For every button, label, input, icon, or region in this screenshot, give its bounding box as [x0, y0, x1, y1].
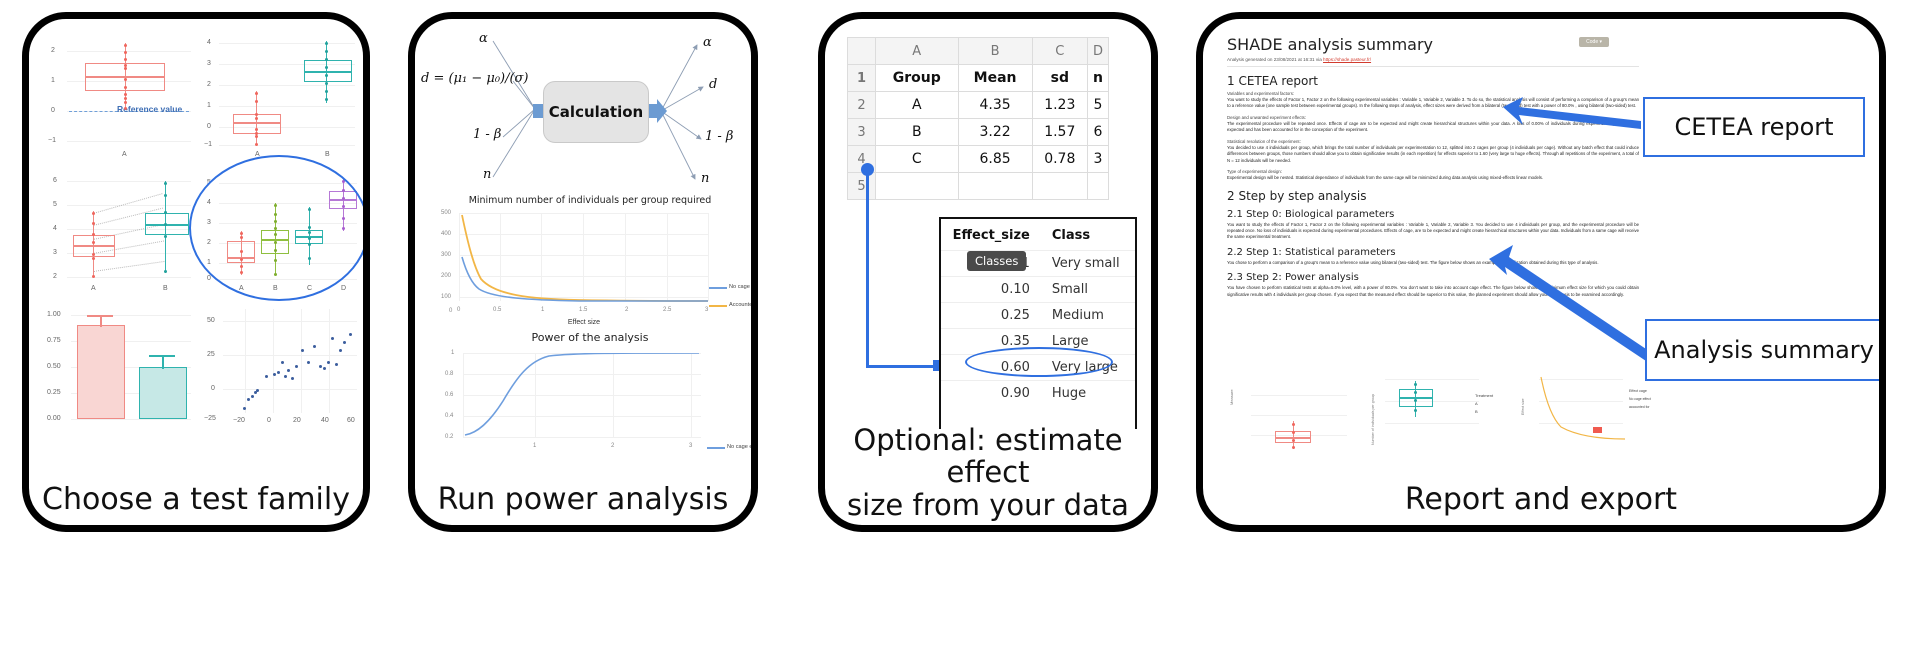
cell-a1[interactable]: Group	[876, 65, 959, 92]
report-divider	[1227, 66, 1639, 67]
callout-cetea-report-label: CETEA report	[1674, 113, 1833, 141]
panel4-caption: Report and export	[1203, 483, 1879, 517]
class-column-header: Class	[1042, 219, 1135, 251]
cell-d1[interactable]: n	[1087, 65, 1108, 92]
effect-size-class-1: Small	[1042, 277, 1135, 303]
report-figure-curve: Effect cage No cage effect accounted for…	[1519, 371, 1669, 453]
table-row[interactable]: 2 A 4.35 1.23 5	[848, 92, 1109, 119]
subsection-heading-2-1: 2.1 Step 0: Biological parameters	[1227, 209, 1639, 220]
output-n: n	[701, 171, 709, 186]
row-header-2[interactable]: 2	[848, 92, 876, 119]
block-text-2: You decided to use 4 individuals per gro…	[1227, 145, 1639, 164]
report-figure-boxplot: Measure	[1231, 387, 1351, 453]
cell-d2[interactable]: 5	[1087, 92, 1108, 119]
report-figure-legend-right-title: Effect cage	[1629, 389, 1647, 393]
classes-tooltip: Classes	[967, 251, 1026, 271]
effect-size-classes-table[interactable]: Effect_size Class 0.01 Very small 0.10 S…	[939, 217, 1137, 429]
report-block: Type of experimental design: Experimenta…	[1227, 169, 1639, 181]
block-subtitle-3: Type of experimental design:	[1227, 169, 1639, 174]
output-effect-size: d	[709, 77, 717, 92]
panel3-content: A B C D 1 Group Mean sd n 2 A	[825, 19, 1151, 429]
panel2-caption: Run power analysis	[415, 483, 751, 517]
callout-analysis-summary-label: Analysis summary	[1654, 336, 1874, 364]
effect-size-column-header: Effect_size	[941, 219, 1042, 251]
report-generated-text: Analysis generated on 23/08/2021 at 16:3…	[1227, 57, 1323, 62]
chart-proportions: 1.00 0.75 0.50 0.25 0.00	[45, 303, 195, 431]
effect-size-class-5: Huge	[1042, 381, 1135, 407]
callout-analysis-summary: Analysis summary	[1645, 319, 1879, 381]
effect-size-value-2: 0.25	[941, 303, 1042, 329]
chart-power: Power of the analysis 1 0.8	[423, 331, 751, 453]
report-block: Variables and experimental factors: You …	[1227, 91, 1639, 110]
cell-c3[interactable]: 1.57	[1032, 119, 1087, 146]
cell-c1[interactable]: sd	[1032, 65, 1087, 92]
legend-label-no-cage-effect: No cage effect	[729, 284, 751, 290]
cell-b5[interactable]	[958, 173, 1032, 200]
subsection-heading-2-3: 2.3 Step 2: Power analysis	[1227, 272, 1639, 283]
code-toggle-button[interactable]: Code ▾	[1579, 37, 1609, 47]
legend-swatch-power-no-cage-effect	[707, 447, 725, 449]
chart-minimum-n-title: Minimum number of individuals per group …	[423, 195, 751, 206]
connector-horizontal	[866, 365, 938, 368]
section-heading-2: 2 Step by step analysis	[1227, 189, 1639, 203]
spreadsheet-column-header-row: A B C D	[848, 38, 1109, 65]
list-item[interactable]: 0.10 Small	[941, 277, 1135, 303]
cell-c5[interactable]	[1032, 173, 1087, 200]
cell-b3[interactable]: 3.22	[958, 119, 1032, 146]
subsection-text-2-3: You have chosen to perform statistical t…	[1227, 285, 1639, 298]
list-item[interactable]: 0.25 Medium	[941, 303, 1135, 329]
panel-estimate-effect-size: A B C D 1 Group Mean sd n 2 A	[818, 12, 1158, 532]
table-row[interactable]: 4 C 6.85 0.78 3	[848, 146, 1109, 173]
table-row[interactable]: 5	[848, 173, 1109, 200]
cell-d5[interactable]	[1087, 173, 1108, 200]
row-header-1[interactable]: 1	[848, 65, 876, 92]
anova-highlight-circle	[189, 155, 363, 301]
column-header-c[interactable]: C	[1032, 38, 1087, 65]
cell-d4[interactable]: 3	[1087, 146, 1108, 173]
cell-b4[interactable]: 6.85	[958, 146, 1032, 173]
cell-b1[interactable]: Mean	[958, 65, 1032, 92]
column-header-b[interactable]: B	[958, 38, 1032, 65]
cell-c4[interactable]: 0.78	[1032, 146, 1087, 173]
input-power: 1 - β	[473, 127, 501, 142]
effect-table-header-row: Effect_size Class	[941, 219, 1135, 251]
report-block: Design and unwanted experiment effects: …	[1227, 115, 1639, 134]
legend-swatch-accounted-for	[709, 305, 727, 307]
row-header-3[interactable]: 3	[848, 119, 876, 146]
subsection-heading-2-2: 2.2 Step 1: Statistical parameters	[1227, 247, 1639, 258]
block-subtitle-0: Variables and experimental factors:	[1227, 91, 1639, 96]
legend-label-accounted-for: Accounted for	[729, 302, 751, 308]
panel4-content: Code ▾ SHADE analysis summary Analysis g…	[1203, 19, 1879, 453]
subsection-text-2-2: You chose to perform a comparison of a g…	[1227, 260, 1639, 266]
block-subtitle-1: Design and unwanted experiment effects:	[1227, 115, 1639, 120]
block-subtitle-2: Statistical resolution of the experiment…	[1227, 139, 1639, 144]
output-alpha: α	[703, 35, 712, 50]
panel1-caption: Choose a test family	[29, 483, 363, 517]
chart-paired: 6 5 4 3 2	[45, 167, 195, 297]
input-effect-size-formula: d = (μ₁ − μ₀)/(σ)	[421, 71, 529, 86]
report-figure-ylabel-right: Effect size	[1521, 398, 1525, 415]
column-header-d[interactable]: D	[1087, 38, 1108, 65]
cell-c2[interactable]: 1.23	[1032, 92, 1087, 119]
column-header-a[interactable]: A	[876, 38, 959, 65]
report-generated-line: Analysis generated on 23/08/2021 at 16:3…	[1227, 57, 1639, 62]
large-row-highlight-ellipse	[965, 347, 1113, 377]
connector-vertical	[866, 169, 869, 367]
effect-size-value-1: 0.10	[941, 277, 1042, 303]
output-power: 1 - β	[705, 129, 733, 144]
panel-report-and-export: Code ▾ SHADE analysis summary Analysis g…	[1196, 12, 1886, 532]
report-figure-legend-right-item-1: accounted for	[1629, 405, 1650, 409]
report-figure-legend-item-a: A	[1475, 401, 1478, 406]
sheet-corner[interactable]	[848, 38, 876, 65]
section-heading-1: 1 CETEA report	[1227, 74, 1639, 88]
cell-d3[interactable]: 6	[1087, 119, 1108, 146]
report-block: Statistical resolution of the experiment…	[1227, 139, 1639, 164]
chart-minimum-n-xlabel: Effect size	[459, 319, 709, 326]
block-text-0: You want to study the effects of Factor …	[1227, 97, 1639, 110]
report-figure-legend-right-item-0: No cage effect	[1629, 397, 1651, 401]
shade-report-document: Code ▾ SHADE analysis summary Analysis g…	[1227, 35, 1639, 303]
list-item[interactable]: 0.90 Huge	[941, 381, 1135, 407]
cell-b2[interactable]: 4.35	[958, 92, 1032, 119]
input-alpha: α	[479, 31, 488, 46]
panel1-plots: 2 1 0 −1 Reference value	[29, 19, 363, 439]
cell-a3[interactable]: B	[876, 119, 959, 146]
table-row[interactable]: 3 B 3.22 1.57 6	[848, 119, 1109, 146]
callout-cetea-report: CETEA report	[1643, 97, 1865, 157]
report-figure-ylabel-mid: Number of individuals per group	[1371, 394, 1375, 445]
panel3-caption: Optional: estimate effect size from your…	[825, 424, 1151, 521]
calculation-node: Calculation	[543, 81, 649, 143]
report-source-link[interactable]: https://shade.pasteur.fr/	[1323, 57, 1371, 62]
panel3-caption-line2: size from your data	[825, 489, 1151, 521]
chart-power-title: Power of the analysis	[423, 331, 751, 344]
panel3-caption-line1: Optional: estimate effect	[825, 424, 1151, 489]
panel-choose-test-family: 2 1 0 −1 Reference value	[22, 12, 370, 532]
workflow-figure: 2 1 0 −1 Reference value	[0, 0, 1906, 660]
report-figure-groups: Treatment A B Number of individuals per …	[1367, 369, 1497, 453]
cell-a5[interactable]	[876, 173, 959, 200]
panel-run-power-analysis: Calculation α d = (μ₁ − μ₀)/(σ) 1 - β n …	[408, 12, 758, 532]
report-figure-legend-title: Treatment	[1475, 393, 1493, 398]
legend-swatch-no-cage-effect	[709, 287, 727, 289]
chart-one-sample: 2 1 0 −1 Reference value	[45, 33, 195, 163]
legend-label-power-no-cage-effect: No cage effect	[727, 444, 751, 450]
effect-size-value-5: 0.90	[941, 381, 1042, 407]
chart-two-sample: 4 3 2 1 0 −1	[201, 33, 361, 163]
cell-a2[interactable]: A	[876, 92, 959, 119]
report-figure-legend-item-b: B	[1475, 409, 1478, 414]
subsection-text-2-1: You want to study the effects of Factor …	[1227, 222, 1639, 241]
report-figure-ylabel-left: Measure	[1229, 389, 1234, 405]
input-n: n	[483, 167, 491, 182]
power-calculation-diagram: Calculation α d = (μ₁ − μ₀)/(σ) 1 - β n …	[415, 19, 751, 204]
block-text-1: The experimental procedure will be repea…	[1227, 121, 1639, 134]
effect-size-class-2: Medium	[1042, 303, 1135, 329]
report-title: SHADE analysis summary	[1227, 35, 1639, 54]
table-row[interactable]: 1 Group Mean sd n	[848, 65, 1109, 92]
panel2-content: Calculation α d = (μ₁ − μ₀)/(σ) 1 - β n …	[415, 19, 751, 453]
data-spreadsheet[interactable]: A B C D 1 Group Mean sd n 2 A	[847, 37, 1109, 200]
chart-correlation: 50 25 0 −25	[201, 303, 361, 431]
effect-size-class-0: Very small	[1042, 251, 1135, 277]
cell-a4[interactable]: C	[876, 146, 959, 173]
chart-minimum-n: Minimum number of individuals per group …	[423, 195, 751, 335]
block-text-3: Experimental design will be nested. Stat…	[1227, 175, 1639, 181]
row-header-5[interactable]: 5	[848, 173, 876, 200]
